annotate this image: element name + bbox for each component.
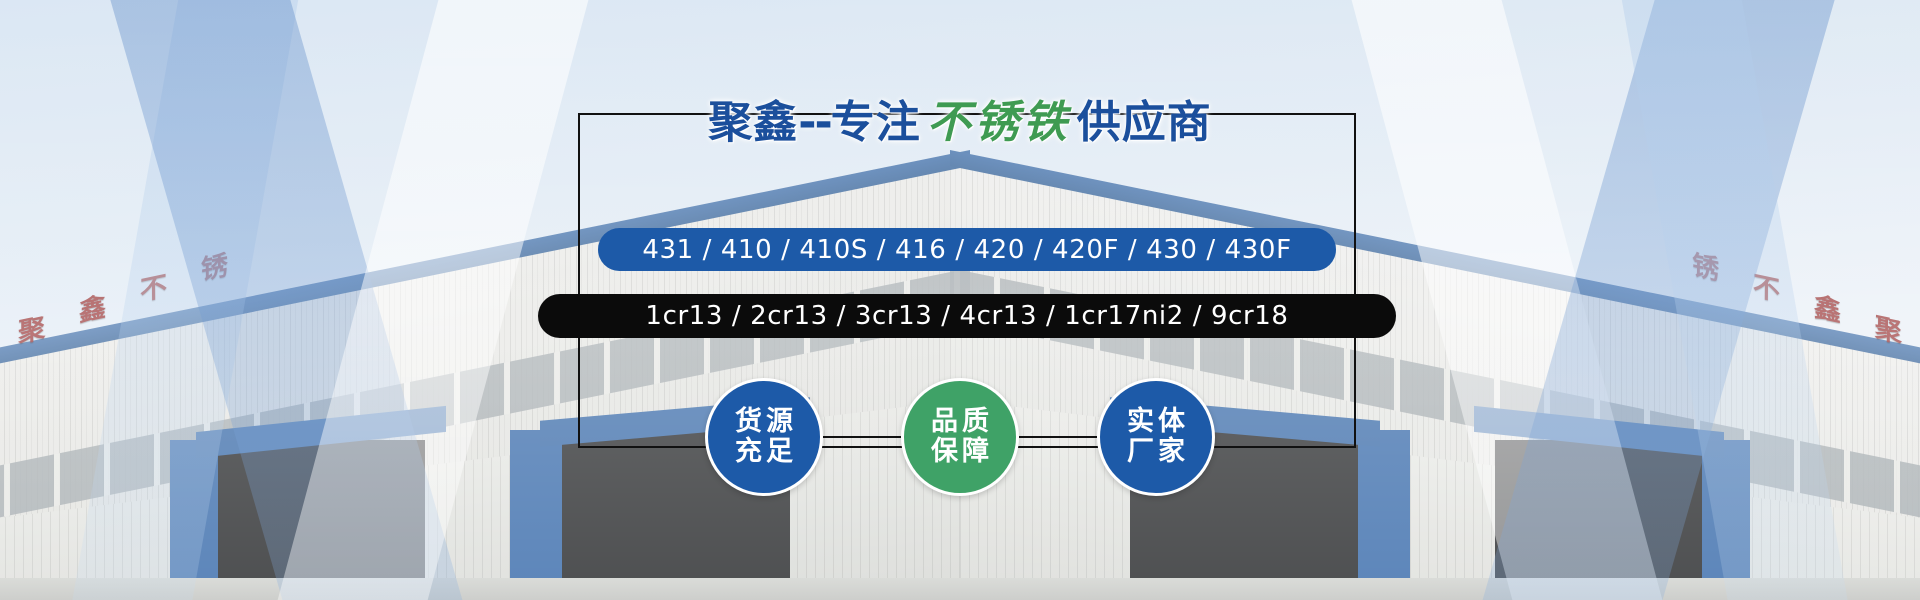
badge-line-1: 货源 — [731, 407, 797, 437]
feature-badge-factory[interactable]: 实体 厂家 — [1097, 378, 1215, 496]
badge-line-2: 充足 — [731, 437, 797, 467]
headline-dash: -- — [798, 97, 831, 148]
banner-content: 聚鑫--专注不锈铁供应商 431 / 410 / 410S / 416 / 42… — [0, 0, 1920, 600]
headline-highlight: 不锈铁 — [921, 97, 1077, 148]
grade-row-black-text: 1cr13 / 2cr13 / 3cr13 / 4cr13 / 1cr17ni2… — [645, 301, 1288, 331]
badge-connector-line — [1019, 436, 1097, 438]
badge-line-2: 厂家 — [1123, 437, 1189, 467]
feature-badge-quality[interactable]: 品质 保障 — [901, 378, 1019, 496]
grade-row-blue-text: 431 / 410 / 410S / 416 / 420 / 420F / 43… — [642, 235, 1291, 265]
grade-row-blue: 431 / 410 / 410S / 416 / 420 / 420F / 43… — [598, 228, 1336, 271]
headline-supplier: 供应商 — [1077, 97, 1212, 148]
feature-badge-supply[interactable]: 货源 充足 — [705, 378, 823, 496]
headline-focus: 专注 — [831, 97, 921, 148]
badge-connector-line — [823, 436, 901, 438]
headline-brand: 聚鑫 — [708, 97, 798, 148]
badge-line-1: 实体 — [1123, 407, 1189, 437]
grade-row-black: 1cr13 / 2cr13 / 3cr13 / 4cr13 / 1cr17ni2… — [538, 294, 1396, 338]
promo-banner: 聚 鑫 不 锈 聚 鑫 不 锈 聚鑫--专注不锈铁供应商 431 / — [0, 0, 1920, 600]
badge-line-1: 品质 — [927, 407, 993, 437]
feature-badge-group: 货源 充足 品质 保障 实体 厂家 — [0, 378, 1920, 496]
headline: 聚鑫--专注不锈铁供应商 — [0, 86, 1920, 150]
badge-line-2: 保障 — [927, 437, 993, 467]
